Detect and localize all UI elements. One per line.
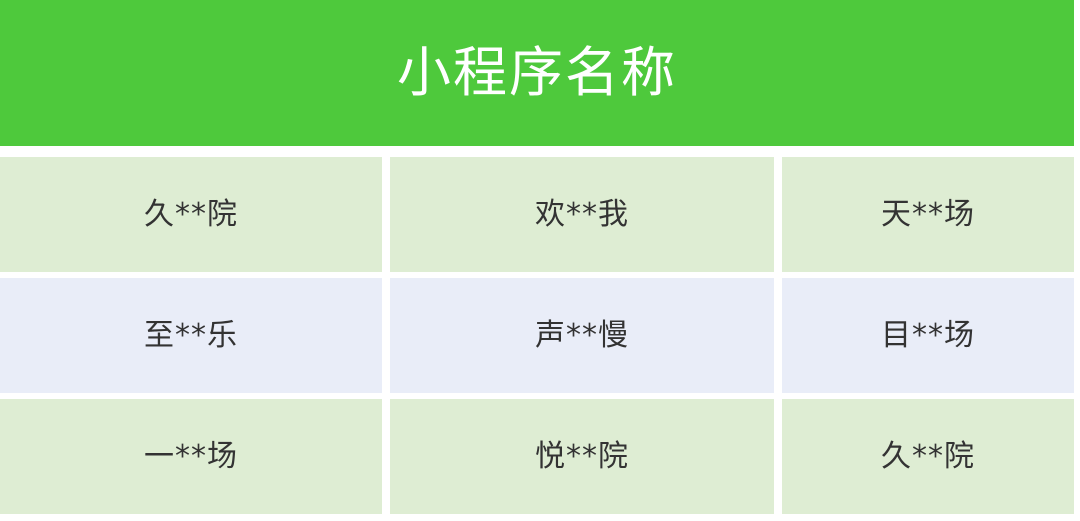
name-cell-label: 声**慢 [535, 318, 629, 354]
name-cell-label: 久**院 [881, 439, 975, 475]
mini-program-name-grid: 久**院 欢**我 天**场 至**乐 声**慢 目**场 一**场 [0, 157, 1074, 514]
name-cell[interactable]: 久**院 [782, 399, 1074, 514]
name-cell-label: 目**场 [881, 318, 975, 354]
name-cell[interactable]: 一**场 [0, 399, 382, 514]
name-cell[interactable]: 欢**我 [390, 157, 774, 272]
name-cell-label: 天**场 [881, 197, 975, 233]
name-cell-label: 一**场 [144, 439, 238, 475]
name-cell[interactable]: 声**慢 [390, 278, 774, 393]
name-cell[interactable]: 天**场 [782, 157, 1074, 272]
header-banner: 小程序名称 [0, 0, 1074, 146]
name-cell[interactable]: 久**院 [0, 157, 382, 272]
mini-program-name-table-page: 小程序名称 久**院 欢**我 天**场 至**乐 声**慢 目**场 [0, 0, 1080, 521]
name-cell-label: 至**乐 [144, 318, 238, 354]
name-cell[interactable]: 至**乐 [0, 278, 382, 393]
name-cell-label: 久**院 [144, 197, 238, 233]
name-cell-label: 欢**我 [535, 197, 629, 233]
name-cell-label: 悦**院 [535, 439, 629, 475]
name-cell[interactable]: 悦**院 [390, 399, 774, 514]
page-title: 小程序名称 [397, 46, 677, 100]
name-cell[interactable]: 目**场 [782, 278, 1074, 393]
